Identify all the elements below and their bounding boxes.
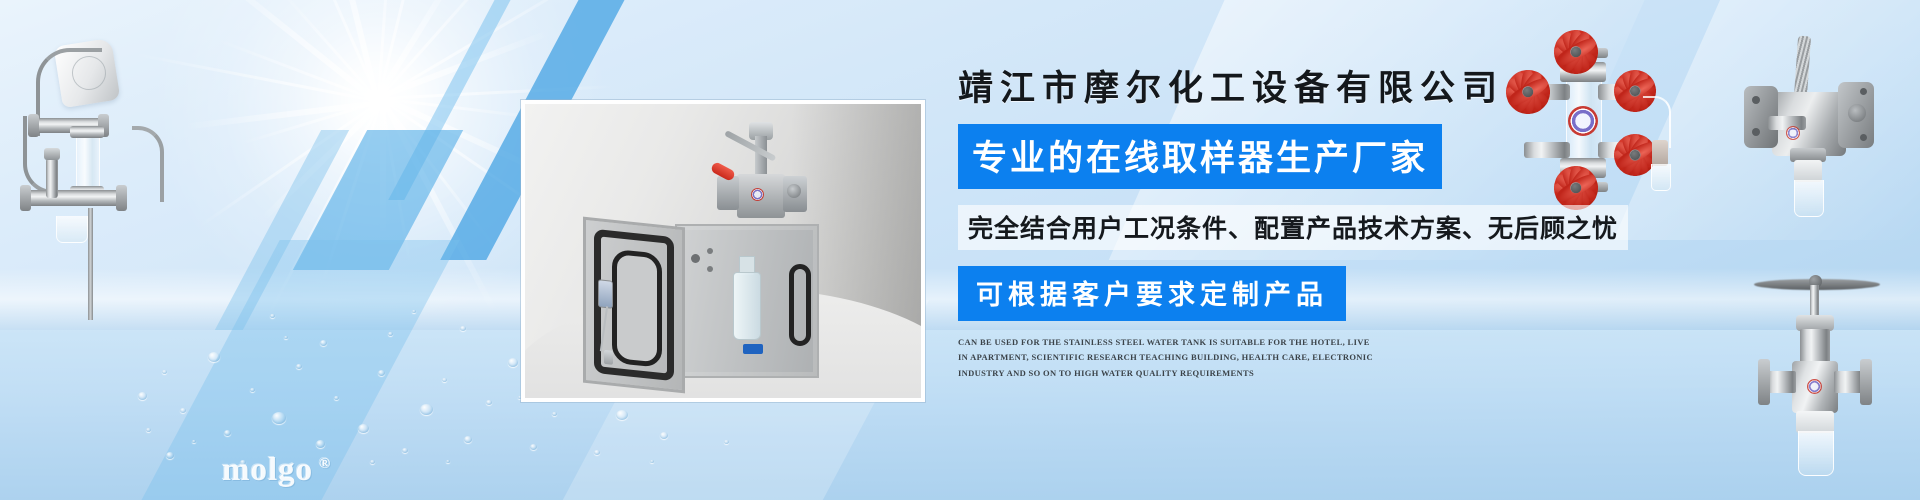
handwheel-spoke: [1559, 29, 1593, 74]
water-droplet: [162, 370, 167, 374]
water-droplet: [508, 358, 518, 367]
water-droplet: [446, 460, 450, 463]
water-droplet: [594, 450, 600, 455]
water-droplet: [334, 396, 339, 400]
water-droplet: [370, 460, 375, 464]
water-droplet: [402, 448, 408, 453]
banner-text-block: 靖江市摩尔化工设备有限公司 专业的在线取样器生产厂家 完全结合用户工况条件、配置…: [958, 70, 1658, 382]
water-droplet: [388, 332, 393, 336]
headline-highlight: 专业的在线取样器生产厂家: [958, 124, 1442, 189]
handwheel-spoke: [1553, 35, 1598, 69]
water-droplet: [378, 370, 385, 376]
water-droplet: [208, 352, 220, 362]
water-droplet: [358, 424, 369, 433]
water-droplet: [270, 314, 275, 318]
water-droplet: [272, 412, 286, 424]
water-droplet: [442, 378, 447, 382]
sub-headline: 完全结合用户工况条件、配置产品技术方案、无后顾之忧: [958, 205, 1628, 250]
bottle-cap: [743, 344, 763, 354]
sampler-valve: [713, 122, 809, 230]
water-droplet: [650, 460, 654, 463]
water-droplet: [460, 326, 466, 331]
water-droplet: [320, 340, 327, 346]
water-droplet: [166, 452, 174, 459]
promo-banner: 靖江市摩尔化工设备有限公司 专业的在线取样器生产厂家 完全结合用户工况条件、配置…: [0, 0, 1920, 500]
sun-ray: [380, 85, 617, 100]
molgo-watermark: molgo®: [222, 452, 331, 489]
company-name: 靖江市摩尔化工设备有限公司: [958, 70, 1658, 109]
water-droplet: [138, 392, 147, 400]
handwheel-spoke: [1559, 29, 1593, 74]
water-droplet: [250, 388, 255, 392]
water-droplet: [180, 408, 186, 413]
sun-ray: [183, 100, 380, 130]
water-droplet: [724, 440, 729, 444]
water-droplet: [284, 336, 288, 339]
left-equipment-render: [10, 30, 190, 320]
water-droplet: [296, 364, 302, 369]
water-droplet: [420, 404, 433, 415]
water-droplet: [146, 428, 151, 432]
water-droplet: [486, 400, 492, 405]
registered-mark-icon: ®: [319, 456, 331, 472]
cabinet-door: [583, 217, 685, 394]
product-photo: [521, 100, 925, 402]
watermark-text: molgo: [222, 452, 313, 488]
water-droplet: [464, 436, 472, 443]
water-droplet: [552, 412, 557, 416]
handwheel-spoke: [1554, 45, 1598, 59]
water-droplet: [660, 432, 668, 439]
sun-ray: [313, 0, 380, 101]
cta-highlight: 可根据客户要求定制产品: [958, 266, 1346, 321]
handwheel-spoke: [1553, 35, 1598, 69]
gate-sampler-render: [1752, 275, 1882, 490]
sample-bottle: [733, 272, 761, 340]
water-droplet: [192, 440, 196, 443]
water-droplet: [316, 440, 325, 448]
english-description: CAN BE USED FOR THE STAINLESS STEEL WATE…: [958, 335, 1378, 382]
water-droplet: [616, 410, 628, 420]
lever-sampler-render: [1738, 30, 1888, 250]
handwheel-spoke: [1569, 30, 1583, 74]
water-droplet: [412, 310, 416, 313]
water-droplet: [224, 430, 231, 436]
handwheel-hub: [1570, 46, 1581, 57]
water-droplet: [530, 444, 537, 450]
